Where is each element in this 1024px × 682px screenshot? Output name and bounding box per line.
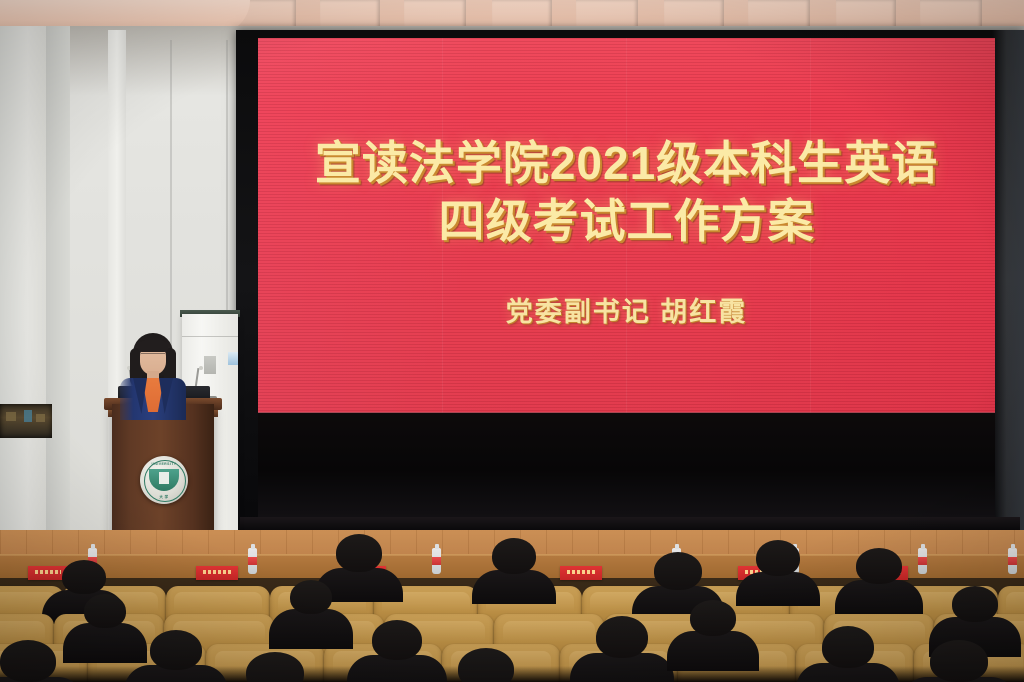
- wall-vent: [0, 404, 52, 438]
- speaker-fringe: [138, 340, 168, 352]
- audience-head: [290, 580, 332, 614]
- audience-shoulders: [472, 570, 556, 604]
- wall-panel-mid: [46, 26, 70, 556]
- audience-head: [822, 626, 874, 668]
- audience-shoulders: [63, 623, 147, 663]
- led-screen-unlit-area: [258, 413, 995, 517]
- water-bottle: [918, 548, 927, 574]
- audience-head: [84, 594, 126, 628]
- seal-text-top: UNIVERSITY: [140, 462, 188, 466]
- name-card: [560, 566, 602, 580]
- university-seal-icon: UNIVERSITY 大 学: [140, 456, 188, 504]
- microphone-head-right: [199, 366, 203, 370]
- audience-head: [492, 538, 536, 574]
- audience-shoulders: [667, 631, 759, 671]
- auditorium-photo: 宣读法学院2021级本科生英语 四级考试工作方案 党委副书记 胡红霞 UNIVE…: [0, 0, 1024, 682]
- cabinet-sticker: [228, 352, 238, 365]
- audience-head: [150, 630, 202, 670]
- audience-head: [596, 616, 648, 658]
- audience-head: [952, 586, 998, 622]
- screen-frame-gloss: [992, 30, 1024, 530]
- audience-shoulders: [269, 609, 353, 649]
- audience-head: [372, 620, 422, 660]
- audience-head: [756, 540, 800, 576]
- seal-text-bottom: 大 学: [140, 495, 188, 500]
- audience-head: [654, 552, 702, 590]
- led-screen-surface: [258, 38, 995, 413]
- cabinet-seam: [182, 336, 238, 337]
- water-bottle: [248, 548, 257, 574]
- audience-head: [856, 548, 902, 584]
- audience-head: [458, 648, 514, 682]
- speaker-glasses: [141, 353, 165, 359]
- audience-head: [62, 560, 106, 594]
- audience-head: [690, 600, 736, 636]
- cabinet-label: [204, 356, 216, 374]
- audience-shoulders: [736, 572, 820, 606]
- wall-panel-left: [0, 26, 46, 556]
- audience-shoulders: [835, 580, 922, 614]
- name-card: [196, 566, 238, 580]
- screen-base: [240, 517, 1020, 531]
- water-bottle: [432, 548, 441, 574]
- audience-head: [336, 534, 382, 572]
- audience-head: [0, 640, 56, 682]
- audience-head: [930, 640, 988, 682]
- water-bottle: [1008, 548, 1017, 574]
